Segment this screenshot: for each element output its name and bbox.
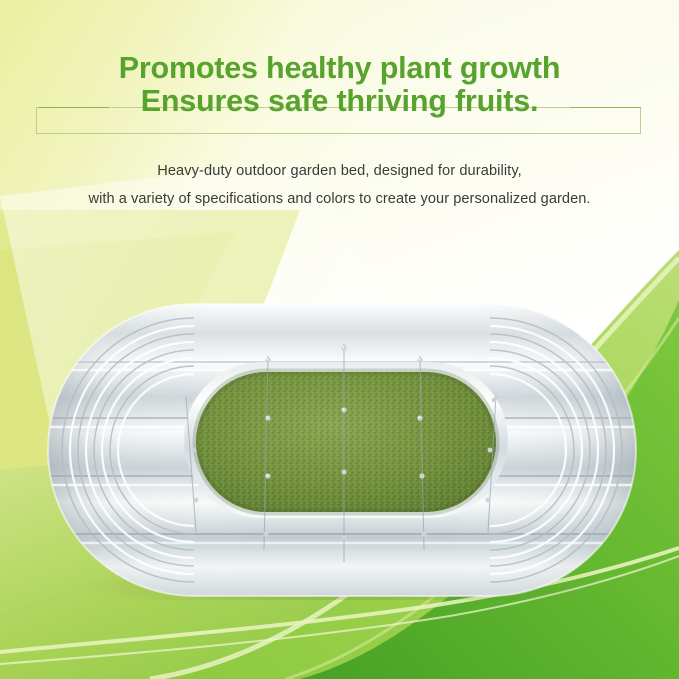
subtitle-block: Heavy-duty outdoor garden bed, designed … (0, 157, 679, 213)
page-title: Promotes healthy plant growth Ensures sa… (0, 0, 679, 118)
subtitle-line-2: with a variety of specifications and col… (0, 185, 679, 213)
bed-soil-fill (184, 362, 508, 518)
subtitle-line-1: Heavy-duty outdoor garden bed, designed … (0, 157, 679, 185)
header-block: Promotes healthy plant growth Ensures sa… (0, 0, 679, 118)
product-image-garden-bed (44, 300, 640, 600)
title-line-2: Ensures safe thriving fruits. (0, 85, 679, 118)
title-line-1: Promotes healthy plant growth (119, 51, 561, 85)
banner-canvas: Promotes healthy plant growth Ensures sa… (0, 0, 679, 679)
